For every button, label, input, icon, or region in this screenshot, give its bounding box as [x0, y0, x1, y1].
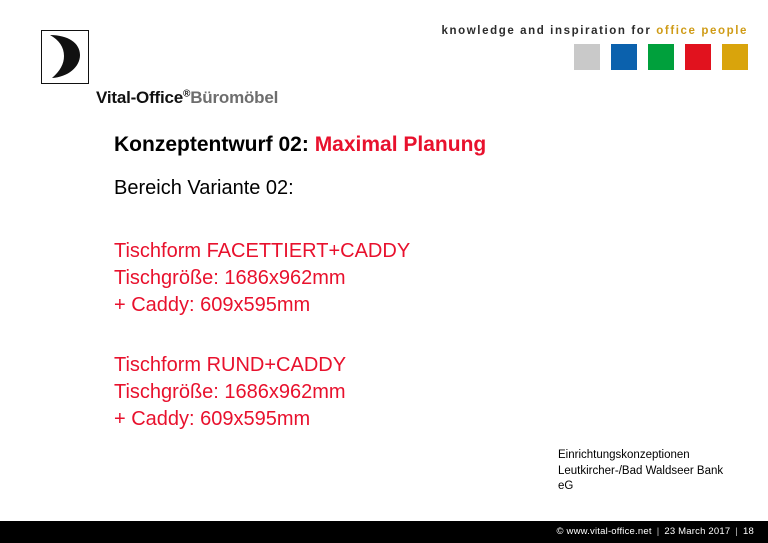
color-swatches — [574, 44, 748, 70]
footer-copyright: © www.vital-office.net — [557, 526, 652, 537]
footer-separator-2: | — [730, 526, 743, 537]
spec-block-2-line-3: + Caddy: 609x595mm — [114, 406, 674, 433]
footer-text: © www.vital-office.net|23 March 2017|18 — [557, 526, 754, 537]
slide-content: Konzeptentwurf 02: Maximal Planung Berei… — [114, 133, 674, 466]
swatch-gold — [722, 44, 748, 70]
project-note-line-3: eG — [558, 479, 768, 495]
swatch-red — [685, 44, 711, 70]
logo-brand: Vital-Office — [96, 88, 183, 107]
tagline-plain: knowledge and inspiration for — [442, 25, 657, 37]
project-note: Einrichtungskonzeptionen Leutkircher-/Ba… — [558, 448, 768, 495]
footer-page-number: 18 — [743, 526, 754, 537]
logo-suffix: Büromöbel — [190, 88, 278, 107]
footer-date: 23 March 2017 — [664, 526, 730, 537]
spec-block-2-line-2: Tischgröße: 1686x962mm — [114, 379, 674, 406]
spec-block-1: Tischform FACETTIERT+CADDY Tischgröße: 1… — [114, 238, 674, 319]
swatch-blue — [611, 44, 637, 70]
spec-block-2-line-1: Tischform RUND+CADDY — [114, 352, 674, 379]
footer-bar: © www.vital-office.net|23 March 2017|18 — [0, 521, 768, 543]
swatch-green — [648, 44, 674, 70]
vital-office-logo-mark-icon — [41, 30, 89, 84]
page-subtitle: Bereich Variante 02: — [114, 177, 674, 200]
tagline: knowledge and inspiration for office peo… — [442, 25, 749, 37]
page-title: Konzeptentwurf 02: Maximal Planung — [114, 133, 674, 157]
spec-block-2: Tischform RUND+CADDY Tischgröße: 1686x96… — [114, 352, 674, 433]
footer-separator-1: | — [652, 526, 665, 537]
title-highlight: Maximal Planung — [315, 133, 487, 156]
swatch-silver — [574, 44, 600, 70]
project-note-line-1: Einrichtungskonzeptionen — [558, 448, 768, 464]
slide: Vital-Office®Büromöbel knowledge and ins… — [0, 0, 768, 543]
project-note-line-2: Leutkircher-/Bad Waldseer Bank — [558, 464, 768, 480]
spec-block-1-line-1: Tischform FACETTIERT+CADDY — [114, 238, 674, 265]
title-prefix: Konzeptentwurf 02: — [114, 133, 309, 156]
tagline-accent: office people — [656, 25, 748, 37]
logo-wordmark: Vital-Office®Büromöbel — [96, 88, 278, 108]
logo: Vital-Office®Büromöbel — [41, 30, 232, 90]
spec-block-1-line-2: Tischgröße: 1686x962mm — [114, 265, 674, 292]
spec-block-1-line-3: + Caddy: 609x595mm — [114, 292, 674, 319]
